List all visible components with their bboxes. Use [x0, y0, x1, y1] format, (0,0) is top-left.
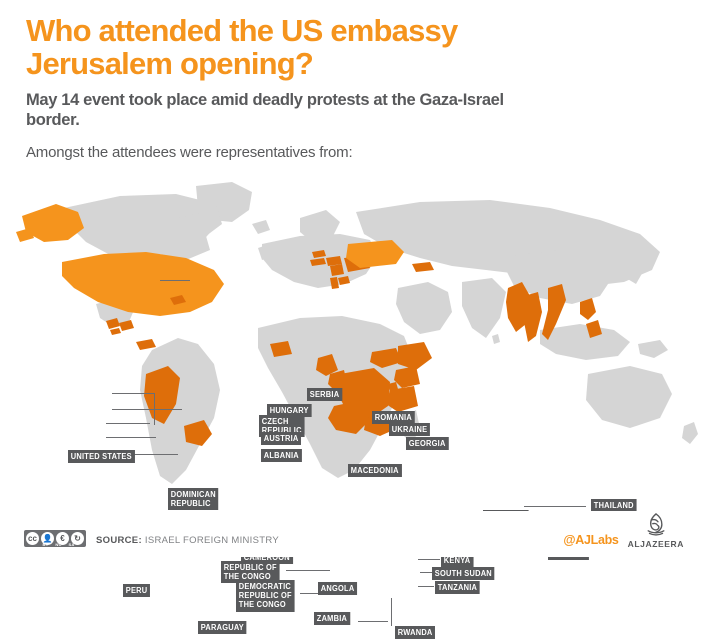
- map-label-south-sudan: SOUTH SUDAN: [432, 567, 495, 580]
- cc-nc-label: NC: [52, 542, 65, 547]
- map-label-ukraine: UKRAINE: [389, 423, 430, 436]
- cc-sa-label: SA: [65, 542, 78, 547]
- leader-line-south-sudan: [420, 572, 432, 573]
- map-label-tanzania: TANZANIA: [435, 581, 480, 594]
- leader-line-tanzania: [418, 586, 434, 587]
- page-title: Who attended the US embassy Jerusalem op…: [26, 14, 586, 80]
- map-label-austria: AUSTRIA: [261, 432, 301, 445]
- leader-line-rwanda-v: [391, 598, 392, 626]
- header: Who attended the US embassy Jerusalem op…: [0, 0, 704, 162]
- aljazeera-flame-icon: [643, 512, 669, 538]
- source-value: ISRAEL FOREIGN MINISTRY: [145, 535, 279, 546]
- source-label: SOURCE:: [96, 535, 142, 546]
- map-label-thailand: THAILAND: [591, 499, 636, 512]
- ajlabs-handle[interactable]: @AJLabs: [563, 533, 618, 549]
- license-area: cc 👤 € ↻ BY NC SA SOURCE: ISRAEL FOREIGN…: [24, 530, 279, 547]
- leader-line-austria: [106, 437, 156, 438]
- map-label-democratic-republic-of-the-congo: DEMOCRATIC REPUBLIC OF THE CONGO: [236, 580, 295, 612]
- leader-line-serbia: [112, 393, 154, 394]
- map-label-serbia: SERBIA: [307, 388, 342, 401]
- world-map: UNITED STATES DOMINICAN REPUBLIC GUATEMA…: [0, 178, 704, 516]
- cc-sublabels: BY NC SA: [39, 542, 78, 547]
- map-label-dominican-republic: DOMINICAN REPUBLIC: [168, 488, 219, 510]
- map-label-romania: ROMANIA: [372, 411, 415, 424]
- map-label-paraguay: PARAGUAY: [198, 621, 247, 634]
- infographic: Who attended the US embassy Jerusalem op…: [0, 0, 704, 557]
- lede-text: Amongst the attendees were representativ…: [26, 144, 680, 162]
- leader-line-roc: [286, 570, 330, 571]
- cc-by-label: BY: [39, 542, 52, 547]
- leader-line-macedonia: [160, 280, 190, 281]
- source-credit: SOURCE: ISRAEL FOREIGN MINISTRY: [96, 535, 279, 547]
- footer: cc 👤 € ↻ BY NC SA SOURCE: ISRAEL FOREIGN…: [0, 511, 704, 557]
- leader-line-zambia: [358, 621, 388, 622]
- cc-icon: cc: [26, 532, 39, 545]
- map-label-georgia: GEORGIA: [406, 437, 448, 450]
- leader-line-czech: [106, 423, 150, 424]
- map-label-angola: ANGOLA: [318, 582, 357, 595]
- aljazeera-wordmark: ALJAZEERA: [628, 539, 684, 549]
- branding: @AJLabs ALJAZEERA: [563, 512, 684, 549]
- map-label-rwanda: RWANDA: [395, 626, 435, 639]
- map-label-macedonia: MACEDONIA: [348, 464, 402, 477]
- subtitle: May 14 event took place amid deadly prot…: [26, 90, 526, 130]
- country-serbia: [330, 264, 344, 276]
- map-label-united-states: UNITED STATES: [68, 450, 135, 463]
- map-label-zambia: ZAMBIA: [314, 612, 350, 625]
- map-label-albania: ALBANIA: [261, 449, 302, 462]
- leader-line-thailand: [524, 506, 586, 507]
- leader-line-kenya: [418, 559, 440, 560]
- aljazeera-logo: ALJAZEERA: [628, 512, 684, 549]
- country-ukraine: [346, 240, 404, 268]
- map-label-peru: PERU: [123, 584, 150, 597]
- leader-line-hungary: [112, 409, 182, 410]
